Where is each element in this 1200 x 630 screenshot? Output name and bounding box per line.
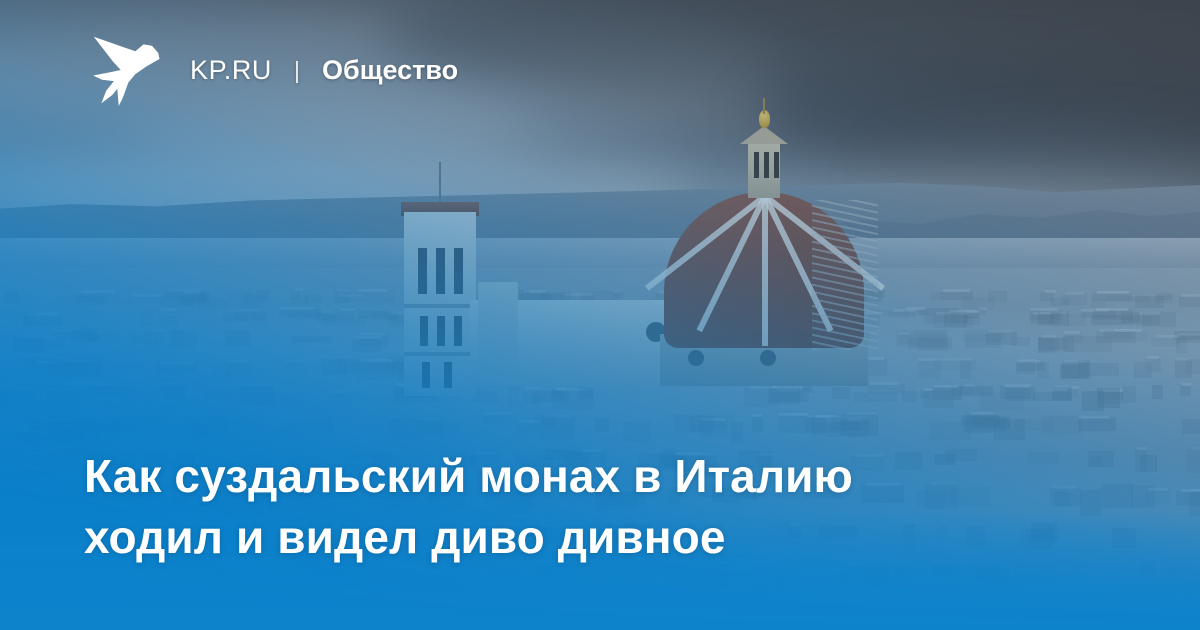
brand-separator: | <box>294 57 300 84</box>
swallow-bird-logo-icon[interactable] <box>92 34 162 106</box>
card-header: KP.RU | Общество <box>0 0 1200 140</box>
brand-name[interactable]: KP.RU <box>190 55 272 86</box>
article-headline: Как суздальский монах в Италию ходил и в… <box>84 446 1094 568</box>
rubric-label[interactable]: Общество <box>322 55 458 86</box>
brand-group: KP.RU | Общество <box>190 55 458 86</box>
share-card: KP.RU | Общество Как суздальский монах в… <box>0 0 1200 630</box>
headline-line-2: ходил и видел диво дивное <box>84 507 1094 568</box>
headline-line-1: Как суздальский монах в Италию <box>84 446 1094 507</box>
